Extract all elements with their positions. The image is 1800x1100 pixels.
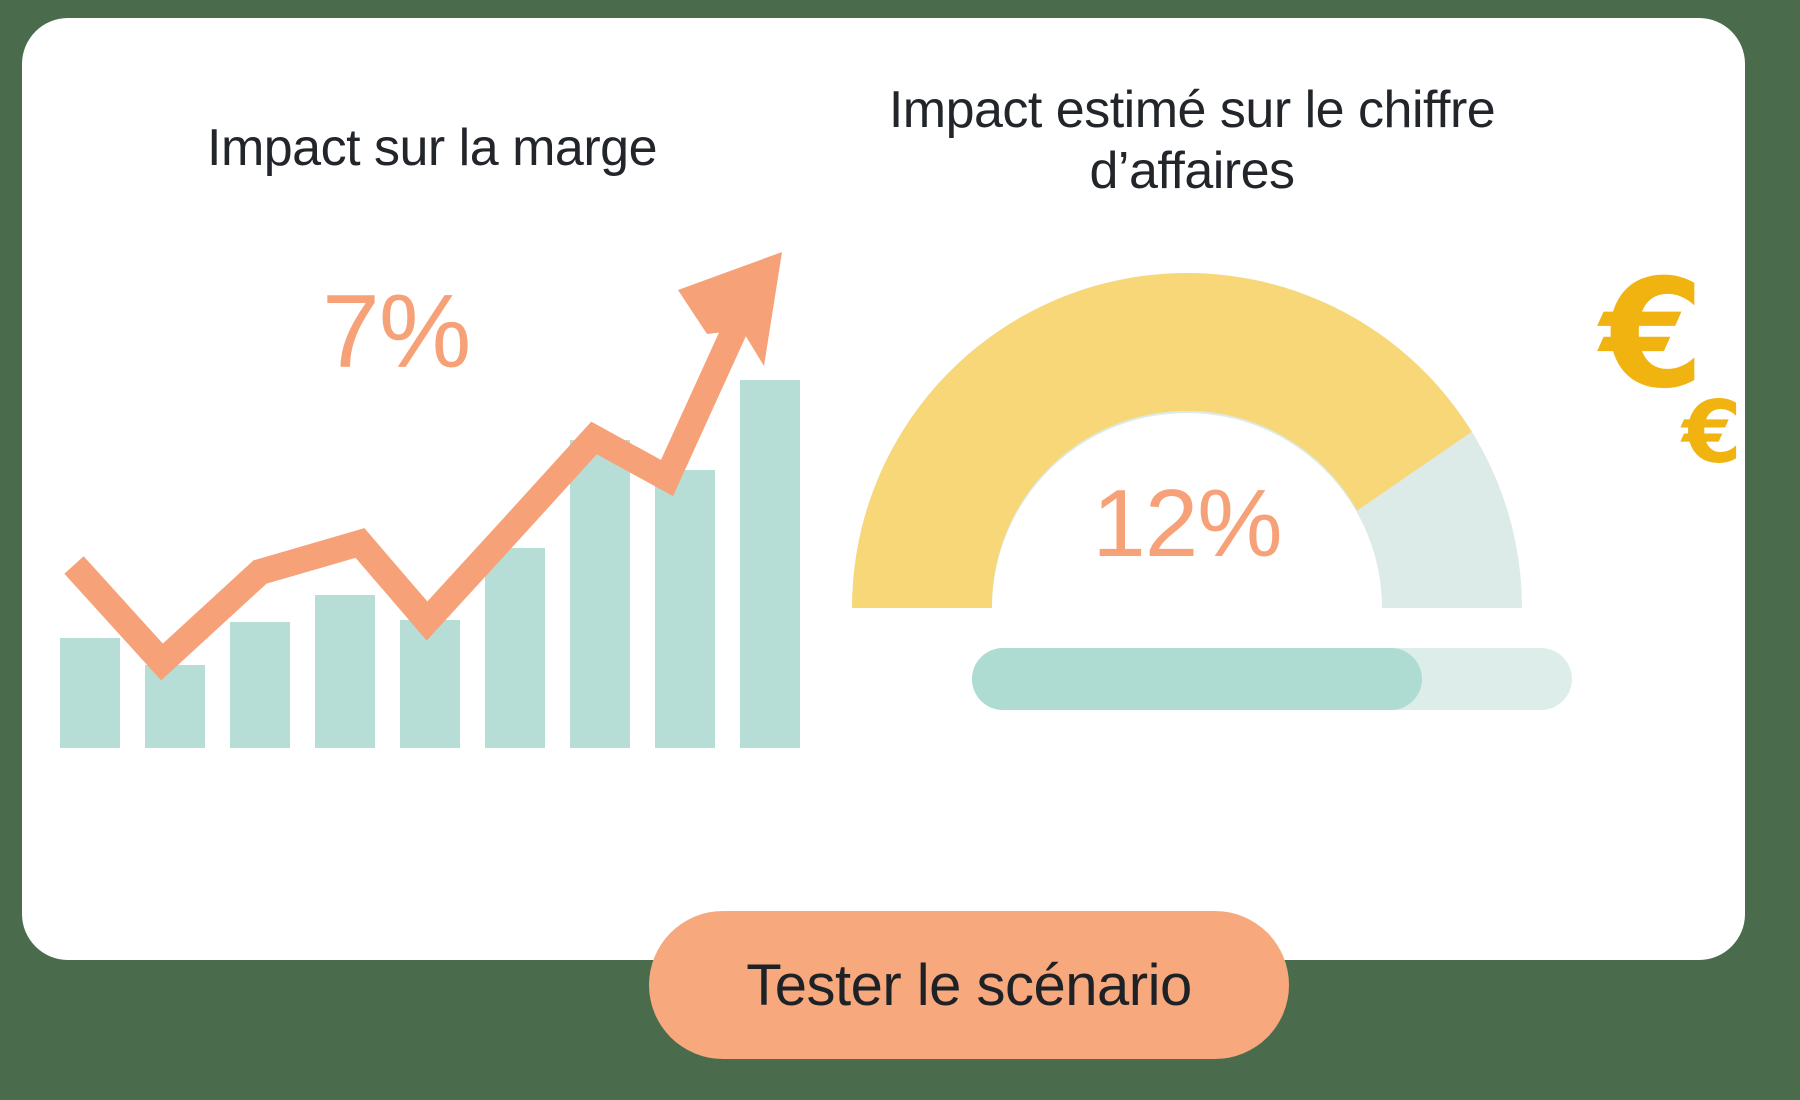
revenue-progress-track[interactable] (972, 648, 1572, 710)
euro-icon-small: € (1682, 390, 1742, 476)
bar-item (315, 595, 375, 748)
bar-item (230, 622, 290, 748)
revenue-progress-fill (972, 648, 1422, 710)
bar-item (145, 665, 205, 748)
revenue-percent-value: 12% (1042, 476, 1332, 572)
test-scenario-button[interactable]: Tester le scénario (649, 911, 1289, 1059)
bar-item (740, 380, 800, 748)
margin-percent-value: 7% (322, 280, 470, 384)
bar-item (570, 440, 630, 748)
bar-item (485, 548, 545, 748)
bar-item (400, 620, 460, 748)
left-panel-title: Impact sur la marge (102, 118, 762, 179)
screenshot-root: Impact sur la marge Impact estimé sur le… (0, 0, 1800, 1100)
scenario-card: Impact sur la marge Impact estimé sur le… (22, 18, 1745, 960)
bar-item (655, 470, 715, 748)
right-panel-title: Impact estimé sur le chiffre d’affaires (882, 80, 1502, 203)
bar-item (60, 638, 120, 748)
